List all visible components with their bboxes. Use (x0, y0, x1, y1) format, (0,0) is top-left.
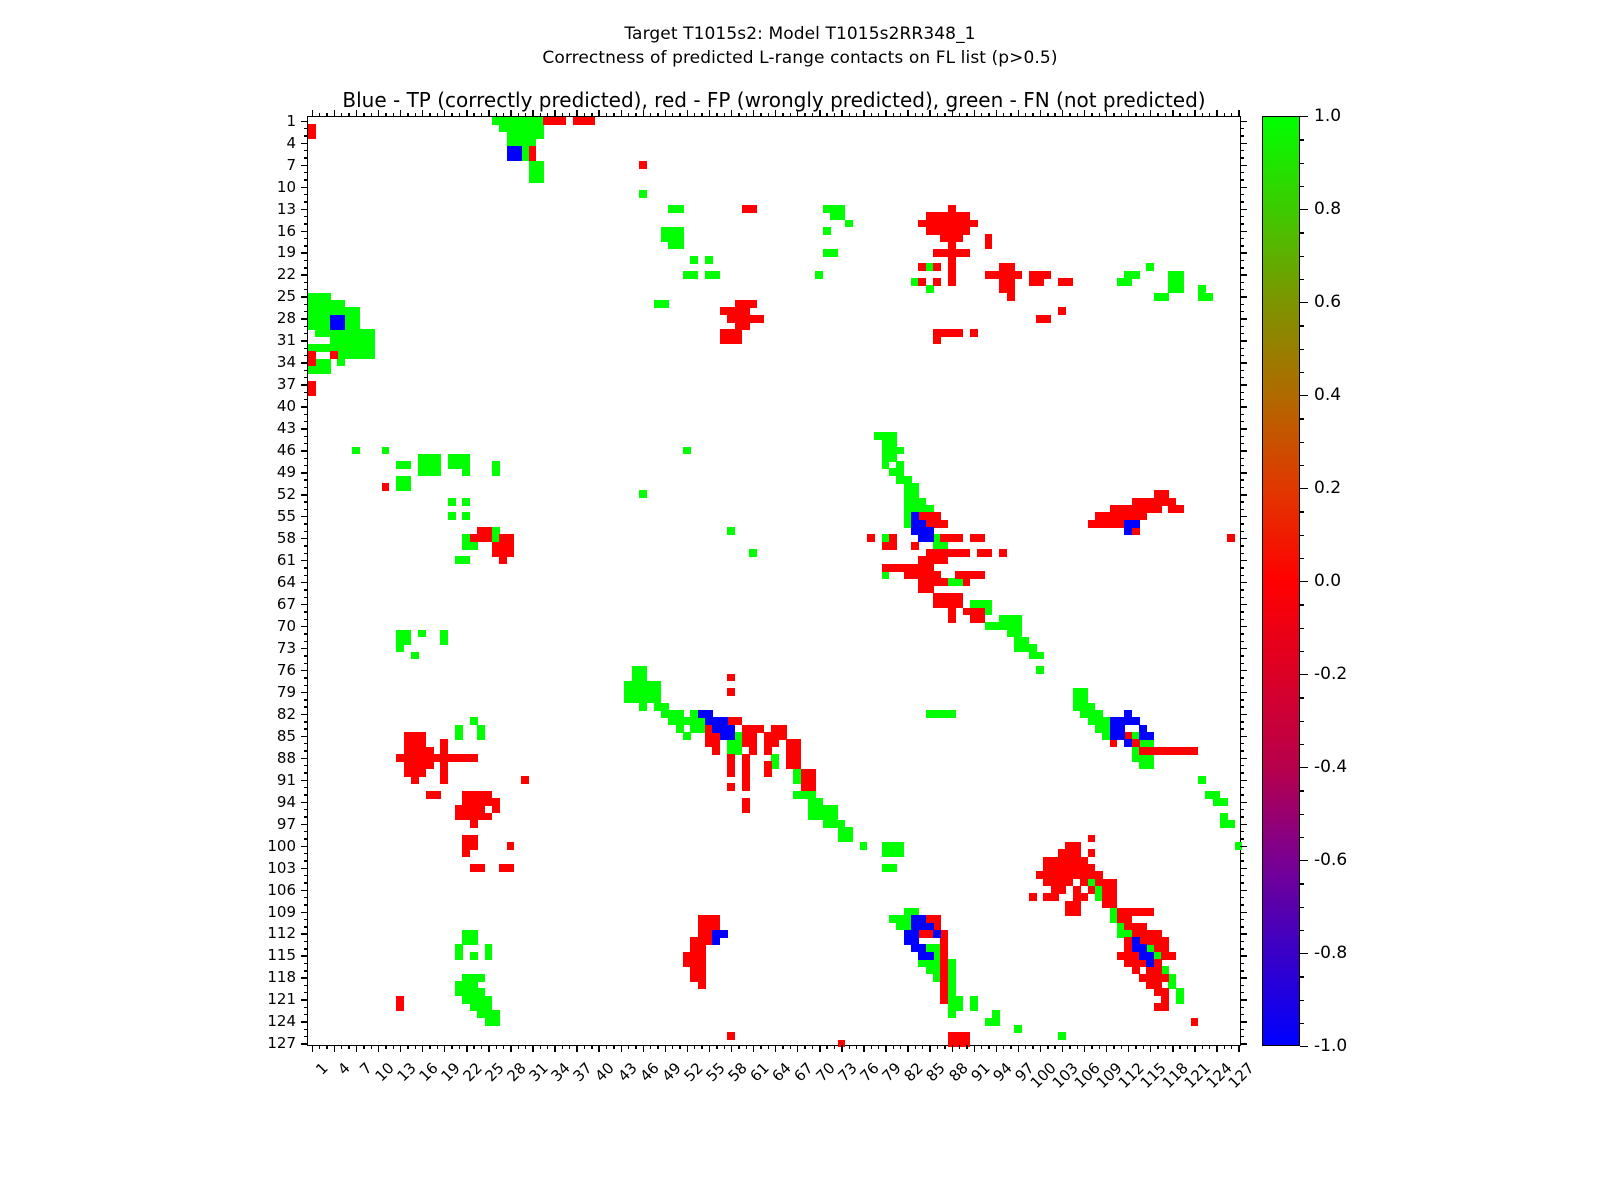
x-tick (841, 1045, 842, 1052)
y-tick-right (1240, 414, 1244, 415)
x-tick (1010, 1045, 1011, 1049)
contact-cell-fn (882, 571, 890, 579)
x-tick-top (1216, 110, 1217, 117)
x-tick (554, 1045, 555, 1052)
colorbar-tick (1300, 302, 1308, 303)
y-tick-label: 7 (286, 156, 296, 174)
contact-cell-fn (823, 227, 831, 235)
y-tick-right (1240, 890, 1247, 891)
y-tick (304, 421, 308, 422)
y-tick-right (1240, 794, 1244, 795)
contact-cell-tp (1146, 732, 1154, 740)
contact-cell-fn (382, 447, 390, 455)
x-tick (628, 1045, 629, 1049)
y-tick-right (1240, 216, 1244, 217)
y-tick (304, 509, 308, 510)
y-tick-label: 103 (267, 859, 296, 877)
x-tick-top (584, 113, 585, 117)
contact-cell-fp (1227, 534, 1235, 542)
y-tick (301, 802, 308, 803)
y-tick-right (1240, 531, 1244, 532)
x-tick-top (709, 110, 710, 117)
colorbar-minor-tick (1300, 883, 1304, 884)
x-tick (621, 1045, 622, 1052)
x-tick (1032, 1045, 1033, 1049)
y-tick-right (1240, 955, 1247, 956)
x-tick (1135, 1045, 1136, 1049)
y-tick-right (1240, 238, 1244, 239)
x-tick (1091, 1045, 1092, 1049)
contact-cell-fn (448, 498, 456, 506)
x-tick-top (1209, 113, 1210, 117)
y-tick-right (1240, 999, 1247, 1000)
contact-cell-tp (933, 930, 941, 938)
x-tick (1128, 1045, 1129, 1052)
x-tick (613, 1045, 614, 1049)
x-tick (635, 1045, 636, 1049)
x-tick (1069, 1045, 1070, 1049)
y-tick (304, 436, 308, 437)
colorbar-minor-tick (1300, 604, 1304, 605)
x-tick (341, 1045, 342, 1049)
y-tick-right (1240, 458, 1244, 459)
contact-cell-fn (639, 703, 647, 711)
colorbar-tick (1300, 1046, 1308, 1047)
y-tick (304, 641, 308, 642)
y-tick (304, 194, 308, 195)
y-tick-right (1240, 706, 1244, 707)
y-tick (304, 392, 308, 393)
y-tick-right (1240, 1014, 1244, 1015)
x-tick (569, 1045, 570, 1049)
colorbar-minor-tick (1300, 535, 1304, 536)
y-tick-label: 85 (277, 727, 296, 745)
y-tick-right (1240, 282, 1244, 283)
y-tick-right (1240, 443, 1244, 444)
y-tick-right (1240, 831, 1244, 832)
y-tick (301, 999, 308, 1000)
y-tick-label: 109 (267, 903, 296, 921)
contact-cell-fn (845, 835, 853, 843)
y-tick (304, 941, 308, 942)
y-tick (304, 135, 308, 136)
x-tick (540, 1045, 541, 1049)
contact-cell-fp (948, 615, 956, 623)
contact-cell-fp (977, 571, 985, 579)
x-tick-top (319, 113, 320, 117)
contact-cell-fp (977, 615, 985, 623)
x-tick (496, 1045, 497, 1049)
colorbar-tick-label: -0.6 (1314, 850, 1347, 870)
contact-cell-fp (426, 761, 434, 769)
x-tick (996, 1045, 997, 1052)
contact-cell-fp (1058, 886, 1066, 894)
contact-cell-fp (911, 542, 919, 550)
y-tick (304, 487, 308, 488)
contact-cell-fn (1014, 1025, 1022, 1033)
x-tick-top (393, 113, 394, 117)
x-tick-top (1238, 110, 1239, 117)
y-tick-label: 13 (277, 200, 296, 218)
y-tick-right (1240, 1029, 1244, 1030)
contact-cell-tp (1132, 520, 1140, 528)
x-tick-top (834, 113, 835, 117)
y-tick-right (1240, 143, 1247, 144)
x-tick-top (966, 113, 967, 117)
contact-cell-tp (926, 534, 934, 542)
x-tick (1202, 1045, 1203, 1049)
contact-cell-fp (955, 234, 963, 242)
x-tick-top (1172, 110, 1173, 117)
y-tick (304, 765, 308, 766)
contact-cell-fp (1073, 908, 1081, 916)
y-tick-right (1240, 641, 1244, 642)
x-tick (863, 1045, 864, 1052)
x-tick-top (885, 110, 886, 117)
contact-cell-fn (455, 952, 463, 960)
x-tick (1209, 1045, 1210, 1049)
y-tick (301, 648, 308, 649)
y-tick (304, 809, 308, 810)
x-tick-top (547, 113, 548, 117)
x-tick (790, 1045, 791, 1049)
contact-map-cells (308, 117, 1240, 1045)
y-tick-right (1240, 721, 1244, 722)
y-tick-right (1240, 589, 1244, 590)
y-tick (304, 238, 308, 239)
x-tick-top (856, 113, 857, 117)
contact-cell-fp (1088, 835, 1096, 843)
x-tick (724, 1045, 725, 1049)
x-tick (407, 1045, 408, 1049)
colorbar-tick-label: 0.2 (1314, 478, 1341, 498)
colorbar-minor-tick (1300, 721, 1304, 722)
contact-cell-fn (455, 732, 463, 740)
x-tick-top (959, 113, 960, 117)
x-tick (937, 1045, 938, 1049)
contact-cell-fn (889, 864, 897, 872)
y-tick-right (1240, 179, 1244, 180)
y-tick (301, 912, 308, 913)
contact-cell-fn (683, 732, 691, 740)
x-tick-top (871, 113, 872, 117)
contact-cell-fp (749, 300, 757, 308)
y-tick-right (1240, 860, 1244, 861)
contact-cell-fn (1124, 278, 1132, 286)
x-tick (871, 1045, 872, 1049)
contact-cell-fp (963, 249, 971, 257)
contact-cell-fn (1205, 293, 1213, 301)
y-tick-right (1240, 750, 1244, 751)
x-tick (481, 1045, 482, 1049)
contact-cell-fp (963, 549, 971, 557)
x-tick-top (804, 113, 805, 117)
x-tick (348, 1045, 349, 1049)
y-tick-right (1240, 948, 1244, 949)
contact-cell-fp (1088, 849, 1096, 857)
x-tick-top (510, 110, 511, 117)
contact-cell-fn (462, 498, 470, 506)
colorbar-minor-tick (1300, 744, 1304, 745)
x-tick-top (415, 113, 416, 117)
contact-cell-fn (1176, 285, 1184, 293)
contact-cell-fp (1154, 505, 1162, 513)
contact-cell-fp (1080, 893, 1088, 901)
x-tick (694, 1045, 695, 1049)
contact-cell-fp (918, 263, 926, 271)
colorbar-minor-tick (1300, 465, 1304, 466)
contact-cell-fp (698, 981, 706, 989)
x-tick-top (1018, 110, 1019, 117)
colorbar-minor-tick (1300, 651, 1304, 652)
x-tick-top (1150, 110, 1151, 117)
contact-cell-fp (867, 534, 875, 542)
x-tick (473, 1045, 474, 1049)
x-tick (518, 1045, 519, 1049)
contact-cell-fp (742, 783, 750, 791)
x-tick (981, 1045, 982, 1049)
x-tick-top (738, 113, 739, 117)
contact-cell-fn (683, 447, 691, 455)
y-tick (304, 333, 308, 334)
y-tick (301, 252, 308, 253)
y-tick (304, 1036, 308, 1037)
y-tick (304, 860, 308, 861)
y-tick-right (1240, 933, 1247, 934)
contact-cell-fp (308, 388, 316, 396)
x-tick-top (1040, 110, 1041, 117)
x-tick-top (1135, 113, 1136, 117)
y-tick (304, 370, 308, 371)
y-tick (304, 677, 308, 678)
y-tick (301, 670, 308, 671)
contact-cell-fn (404, 637, 412, 645)
y-tick (304, 948, 308, 949)
x-tick-top (819, 110, 820, 117)
colorbar-minor-tick (1300, 837, 1304, 838)
y-tick-right (1240, 479, 1244, 480)
y-tick (304, 355, 308, 356)
y-tick (304, 838, 308, 839)
x-tick-top (1121, 113, 1122, 117)
contact-cell-fp (382, 483, 390, 491)
contact-cell-fn (492, 468, 500, 476)
contact-cell-fp (889, 542, 897, 550)
y-tick (304, 663, 308, 664)
y-tick (304, 553, 308, 554)
x-tick-top (628, 113, 629, 117)
x-tick (760, 1045, 761, 1049)
x-tick (1106, 1045, 1107, 1052)
x-tick-top (812, 113, 813, 117)
x-tick-label: 4 (334, 1059, 353, 1078)
contact-cell-fn (323, 366, 331, 374)
x-tick (959, 1045, 960, 1049)
y-tick-label: 79 (277, 683, 296, 701)
x-tick-top (496, 113, 497, 117)
x-tick (665, 1045, 666, 1052)
contact-cell-fn (1176, 996, 1184, 1004)
colorbar-minor-tick (1300, 628, 1304, 629)
y-tick-label: 106 (267, 881, 296, 899)
x-tick-top (1032, 113, 1033, 117)
x-tick-top (952, 110, 953, 117)
y-tick-label: 25 (277, 287, 296, 305)
y-tick-right (1240, 1036, 1244, 1037)
colorbar-minor-tick (1300, 418, 1304, 419)
figure-title-line-2: Correctness of predicted L-range contact… (0, 46, 1600, 70)
x-tick-top (724, 113, 725, 117)
contact-cell-fp (1132, 527, 1140, 535)
y-tick-right (1240, 663, 1244, 664)
x-tick-top (444, 110, 445, 117)
x-tick-top (1069, 113, 1070, 117)
y-tick-right (1240, 868, 1247, 869)
y-tick-right (1240, 626, 1247, 627)
y-tick (304, 260, 308, 261)
y-tick-right (1240, 399, 1244, 400)
contact-cell-fn (337, 359, 345, 367)
y-tick-right (1240, 816, 1244, 817)
y-tick (301, 1021, 308, 1022)
contact-cell-fp (757, 315, 765, 323)
y-tick (304, 531, 308, 532)
contact-cell-fp (727, 674, 735, 682)
y-tick (304, 289, 308, 290)
x-tick (900, 1045, 901, 1049)
contact-cell-fn (948, 1010, 956, 1018)
x-tick-top (1010, 113, 1011, 117)
y-tick (304, 597, 308, 598)
x-tick (1216, 1045, 1217, 1052)
colorbar-minor-tick (1300, 1023, 1304, 1024)
y-tick (304, 348, 308, 349)
contact-cell-fp (1043, 271, 1051, 279)
x-tick (319, 1045, 320, 1049)
x-tick-top (863, 110, 864, 117)
y-tick-right (1240, 355, 1244, 356)
colorbar-minor-tick (1300, 790, 1304, 791)
contact-cell-tp (337, 322, 345, 330)
x-tick-top (1113, 113, 1114, 117)
y-tick-label: 40 (277, 397, 296, 415)
y-tick-right (1240, 128, 1244, 129)
contact-cell-fp (963, 227, 971, 235)
x-tick-top (348, 113, 349, 117)
y-tick-label: 31 (277, 331, 296, 349)
y-tick-label: 82 (277, 705, 296, 723)
contact-cell-fp (808, 783, 816, 791)
x-tick (591, 1045, 592, 1049)
contact-cell-fp (940, 996, 948, 1004)
y-tick-right (1240, 545, 1244, 546)
y-tick (304, 794, 308, 795)
contact-cell-fp (1058, 307, 1066, 315)
contact-cell-fp (727, 1032, 735, 1040)
y-tick (304, 282, 308, 283)
y-tick-right (1240, 1043, 1247, 1044)
colorbar-minor-tick (1300, 930, 1304, 931)
x-tick-top (790, 113, 791, 117)
x-tick-top (613, 113, 614, 117)
y-tick-label: 43 (277, 419, 296, 437)
contact-cell-fp (749, 747, 757, 755)
contact-cell-fp (1088, 886, 1096, 894)
contact-cell-fn (1198, 776, 1206, 784)
x-tick (415, 1045, 416, 1049)
x-tick-top (893, 113, 894, 117)
x-tick-top (643, 110, 644, 117)
y-tick-right (1240, 553, 1244, 554)
y-tick (304, 875, 308, 876)
y-tick-right (1240, 992, 1244, 993)
y-tick-right (1240, 882, 1244, 883)
x-tick-top (694, 113, 695, 117)
y-tick-right (1240, 223, 1244, 224)
x-tick-top (1143, 113, 1144, 117)
y-tick-right (1240, 743, 1244, 744)
x-tick (503, 1045, 504, 1049)
y-tick (301, 428, 308, 429)
contact-cell-tp (1146, 959, 1154, 967)
y-tick-right (1240, 941, 1244, 942)
contact-cell-fp (970, 329, 978, 337)
x-tick (1231, 1045, 1232, 1049)
contact-cell-fp (411, 776, 419, 784)
x-tick-top (760, 113, 761, 117)
y-tick (301, 582, 308, 583)
x-tick (393, 1045, 394, 1049)
y-tick-right (1240, 260, 1244, 261)
y-tick (301, 977, 308, 978)
contact-cell-fp (1168, 952, 1176, 960)
contact-cell-fn (404, 483, 412, 491)
contact-cell-fn (1036, 652, 1044, 660)
x-tick-top (378, 110, 379, 117)
x-tick-top (385, 113, 386, 117)
y-tick-label: 91 (277, 771, 296, 789)
y-tick (301, 296, 308, 297)
y-tick (304, 1014, 308, 1015)
y-tick (301, 340, 308, 341)
y-tick (304, 245, 308, 246)
contact-cell-fn (536, 176, 544, 184)
y-tick-right (1240, 318, 1247, 319)
x-tick-top (1025, 113, 1026, 117)
x-tick (966, 1045, 967, 1049)
x-tick-top (900, 113, 901, 117)
x-tick (819, 1045, 820, 1052)
contact-cell-fp (418, 769, 426, 777)
y-tick-right (1240, 135, 1244, 136)
y-tick (304, 304, 308, 305)
x-tick (1165, 1045, 1166, 1049)
y-tick-label: 55 (277, 507, 296, 525)
x-tick-top (326, 113, 327, 117)
x-tick-top (488, 110, 489, 117)
y-tick-label: 46 (277, 441, 296, 459)
x-tick-top (996, 110, 997, 117)
contact-cell-fp (433, 791, 441, 799)
contact-cell-fp (521, 776, 529, 784)
figure-title-line-1: Target T1015s2: Model T1015s2RR348_1 (0, 22, 1600, 46)
x-tick-top (1179, 113, 1180, 117)
x-tick-top (459, 113, 460, 117)
x-tick (437, 1045, 438, 1049)
x-tick (679, 1045, 680, 1049)
y-tick (304, 611, 308, 612)
x-tick (738, 1045, 739, 1049)
